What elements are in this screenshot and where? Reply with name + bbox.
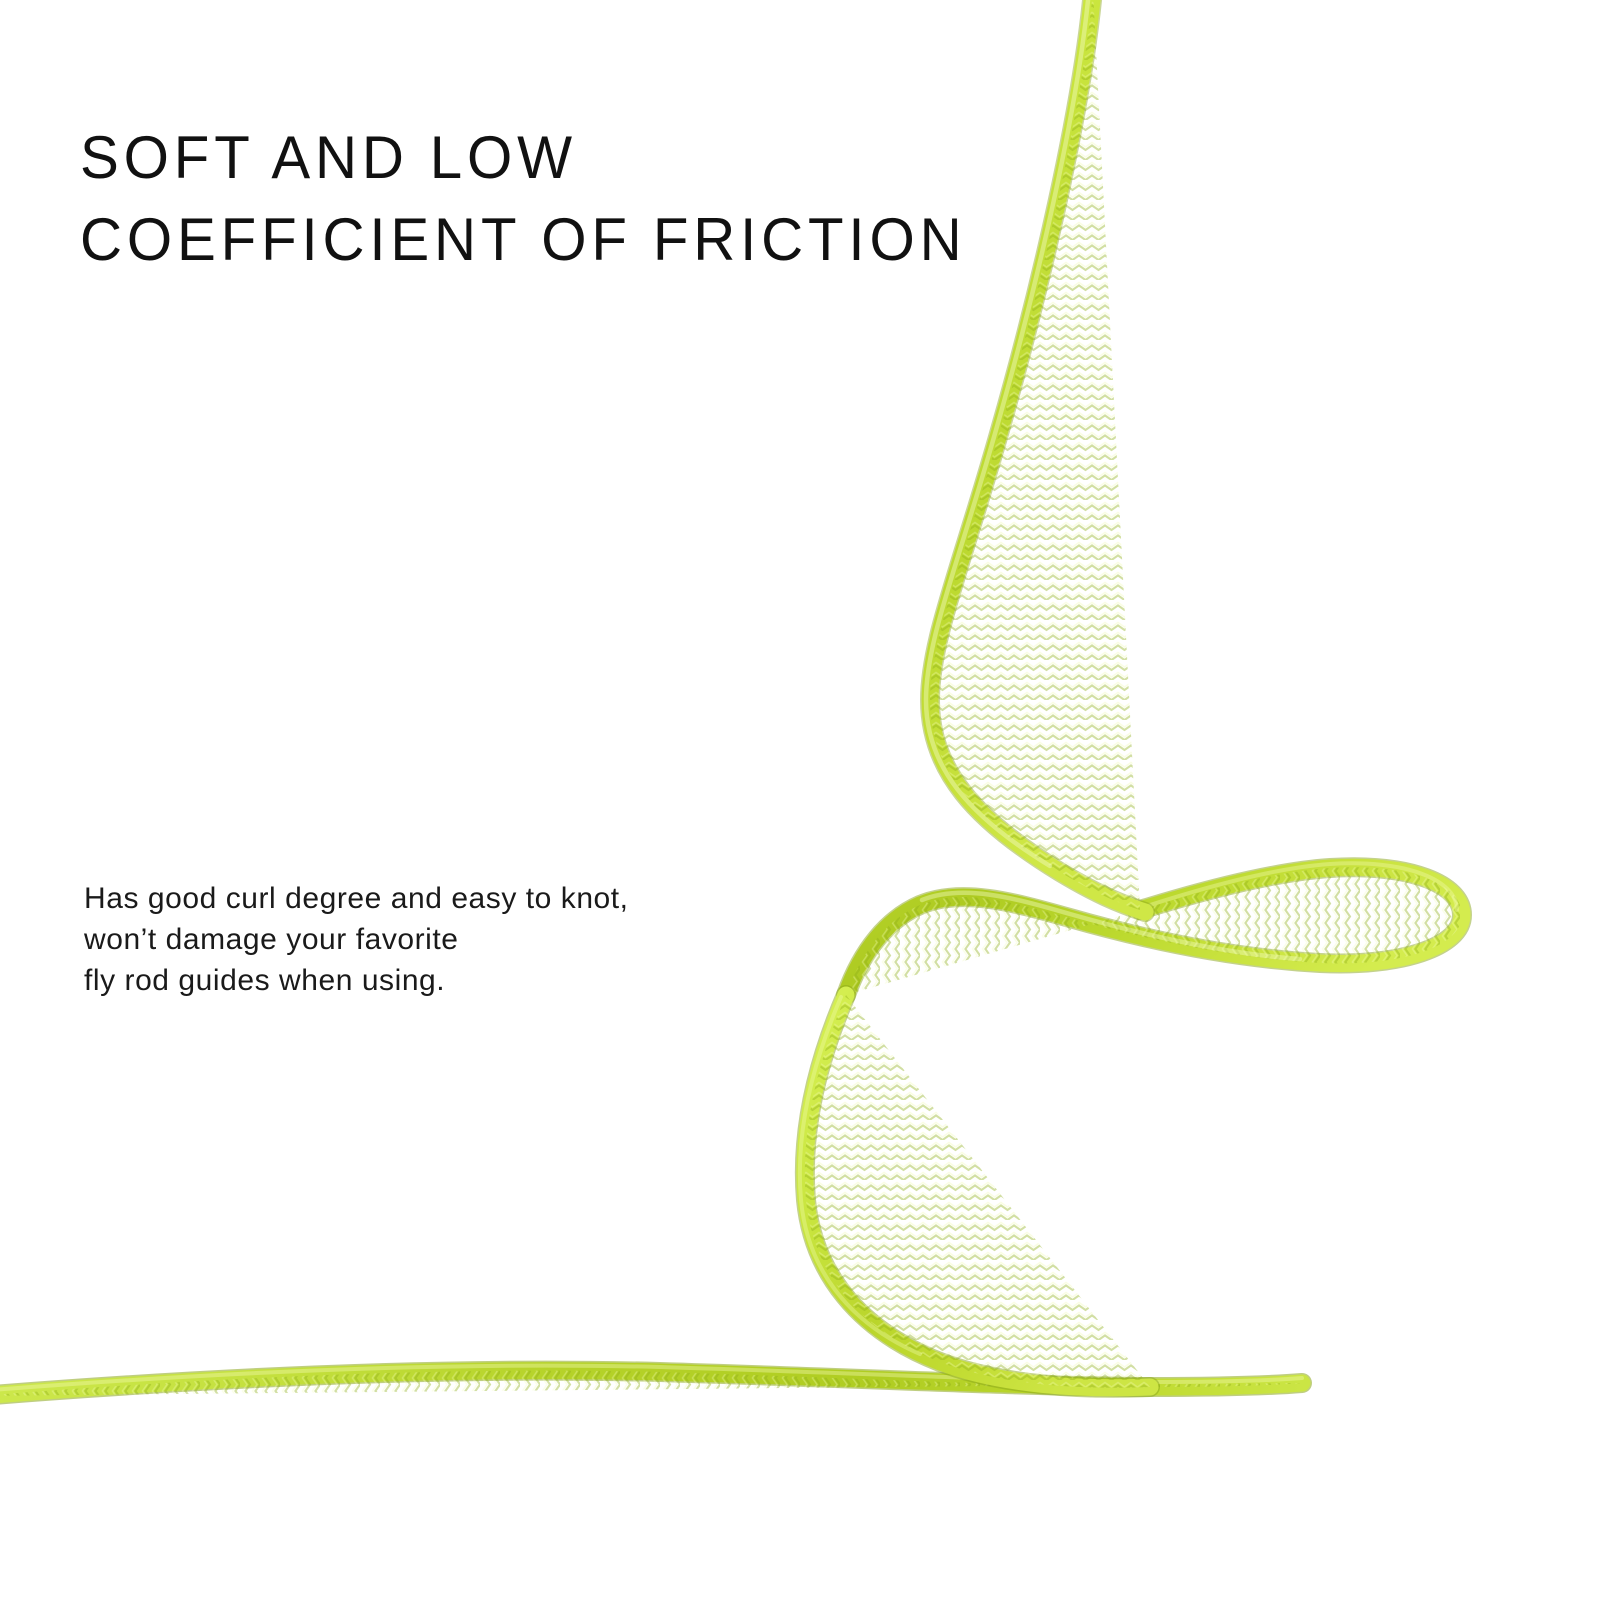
poster-canvas: SOFT AND LOW COEFFICIENT OF FRICTION Has… [0,0,1600,1600]
line-segment-bottom-run [0,1340,1360,1450]
page-title: SOFT AND LOW COEFFICIENT OF FRICTION [80,117,1280,281]
headline-line-1: SOFT AND LOW [80,117,1244,199]
body-copy: Has good curl degree and easy to knot, w… [84,878,924,1001]
body-copy-line-2: won’t damage your favorite [84,919,924,960]
line-segment-lower-curve [770,970,1190,1410]
headline-line-2: COEFFICIENT OF FRICTION [80,199,1244,281]
body-copy-line-1: Has good curl degree and easy to knot, [84,878,924,919]
body-copy-line-3: fly rod guides when using. [84,960,924,1001]
